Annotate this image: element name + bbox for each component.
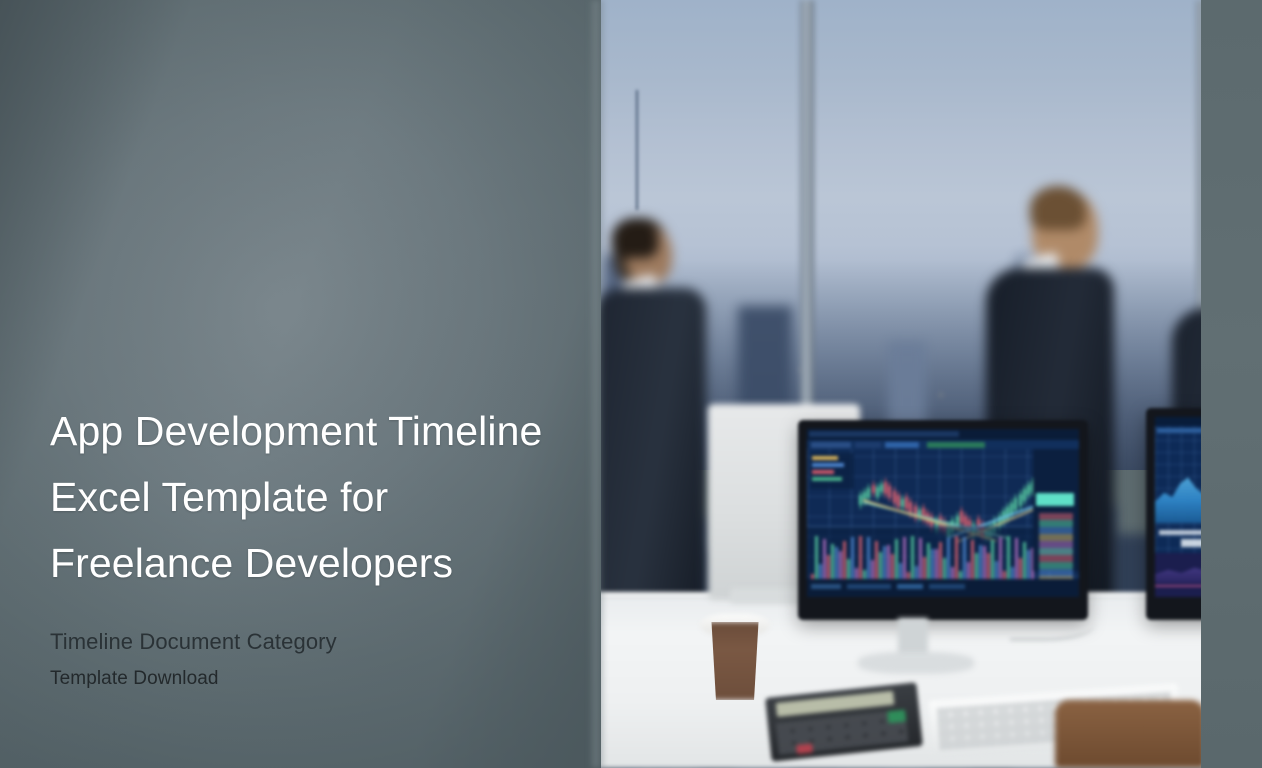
title-line-1: App Development Timeline [50, 408, 542, 454]
coffee-cup [707, 622, 763, 700]
title-line-3: Freelance Developers [50, 540, 453, 586]
window-mullion [800, 0, 814, 470]
slide-caption: Template Download [50, 666, 595, 692]
title-slide: App Development Timeline Excel Template … [0, 0, 1262, 768]
chart-statusbar [807, 579, 1079, 597]
businessman-left [596, 218, 706, 618]
page-title: App Development Timeline Excel Template … [50, 398, 595, 596]
slide-text-block: App Development Timeline Excel Template … [50, 398, 595, 692]
volume-pane [807, 526, 1033, 579]
trading-chart-screen [807, 429, 1079, 597]
quote-panel [1033, 449, 1079, 571]
title-line-2: Excel Template for [50, 474, 388, 520]
monitor-base [858, 652, 974, 674]
right-color-band [1201, 0, 1262, 768]
antenna-spire [636, 90, 638, 210]
slide-subtitle: Timeline Document Category [50, 627, 595, 657]
trading-monitor [798, 420, 1088, 620]
office-chair [1055, 700, 1205, 768]
